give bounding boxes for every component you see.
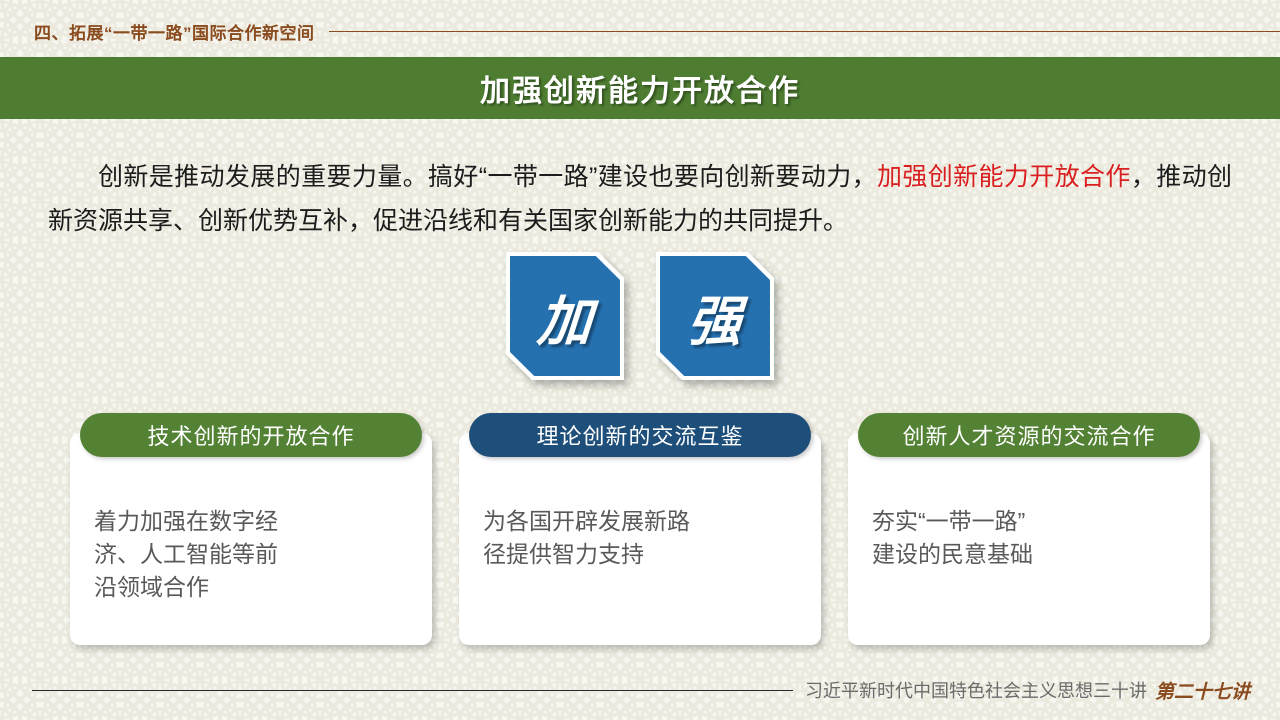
paragraph-segment-1: 创新是推动发展的重要力量。搞好“一带一路”建设也要向创新要动力， (98, 163, 877, 191)
tile-2-glyph: 强 (685, 277, 745, 356)
card-3: 夯实“一带一路” 建设的民意基础 创新人才资源的交流合作 (848, 413, 1210, 645)
tile-2-fill: 强 (660, 256, 770, 376)
tile-1-glyph: 加 (535, 277, 595, 356)
paragraph-highlight: 加强创新能力开放合作 (877, 163, 1131, 191)
body-paragraph: 创新是推动发展的重要力量。搞好“一带一路”建设也要向创新要动力，加强创新能力开放… (48, 155, 1232, 243)
tile-1-fill: 加 (510, 256, 620, 376)
card-3-text: 夯实“一带一路” 建设的民意基础 (872, 505, 1186, 571)
card-2-body: 为各国开辟发展新路 径提供智力支持 (459, 433, 821, 645)
card-2-text: 为各国开辟发展新路 径提供智力支持 (483, 505, 797, 571)
section-divider-line (329, 31, 1280, 32)
emphasis-tile-1: 加 (506, 252, 624, 380)
footer-divider-line (32, 690, 793, 691)
card-1-header[interactable]: 技术创新的开放合作 (80, 413, 422, 457)
slide-root: 四、拓展“一带一路”国际合作新空间 加强创新能力开放合作 创新是推动发展的重要力… (0, 0, 1280, 720)
footer-lecture-number: 第二十七讲 (1155, 677, 1250, 704)
card-1-header-label: 技术创新的开放合作 (147, 419, 354, 451)
card-2-header-label: 理论创新的交流互鉴 (536, 419, 743, 451)
card-3-body: 夯实“一带一路” 建设的民意基础 (848, 433, 1210, 645)
footer-series-title: 习近平新时代中国特色社会主义思想三十讲 (805, 677, 1147, 703)
card-3-header-label: 创新人才资源的交流合作 (902, 419, 1155, 451)
section-kicker: 四、拓展“一带一路”国际合作新空间 (0, 16, 1280, 46)
card-3-header[interactable]: 创新人才资源的交流合作 (858, 413, 1200, 457)
emphasis-tiles-group: 加 强 (0, 252, 1280, 392)
emphasis-tile-2: 强 (656, 252, 774, 380)
card-1-text: 着力加强在数字经 济、人工智能等前 沿领域合作 (94, 505, 408, 604)
card-1: 着力加强在数字经 济、人工智能等前 沿领域合作 技术创新的开放合作 (70, 413, 432, 645)
page-title: 加强创新能力开放合作 (480, 66, 800, 110)
card-2-header[interactable]: 理论创新的交流互鉴 (469, 413, 811, 457)
slide-footer: 习近平新时代中国特色社会主义思想三十讲 第二十七讲 (0, 674, 1280, 706)
section-label: 四、拓展“一带一路”国际合作新空间 (34, 19, 315, 44)
cards-row: 着力加强在数字经 济、人工智能等前 沿领域合作 技术创新的开放合作 为各国开辟发… (70, 413, 1210, 653)
slide-title-band: 加强创新能力开放合作 (0, 57, 1280, 119)
card-2: 为各国开辟发展新路 径提供智力支持 理论创新的交流互鉴 (459, 413, 821, 645)
card-1-body: 着力加强在数字经 济、人工智能等前 沿领域合作 (70, 433, 432, 645)
